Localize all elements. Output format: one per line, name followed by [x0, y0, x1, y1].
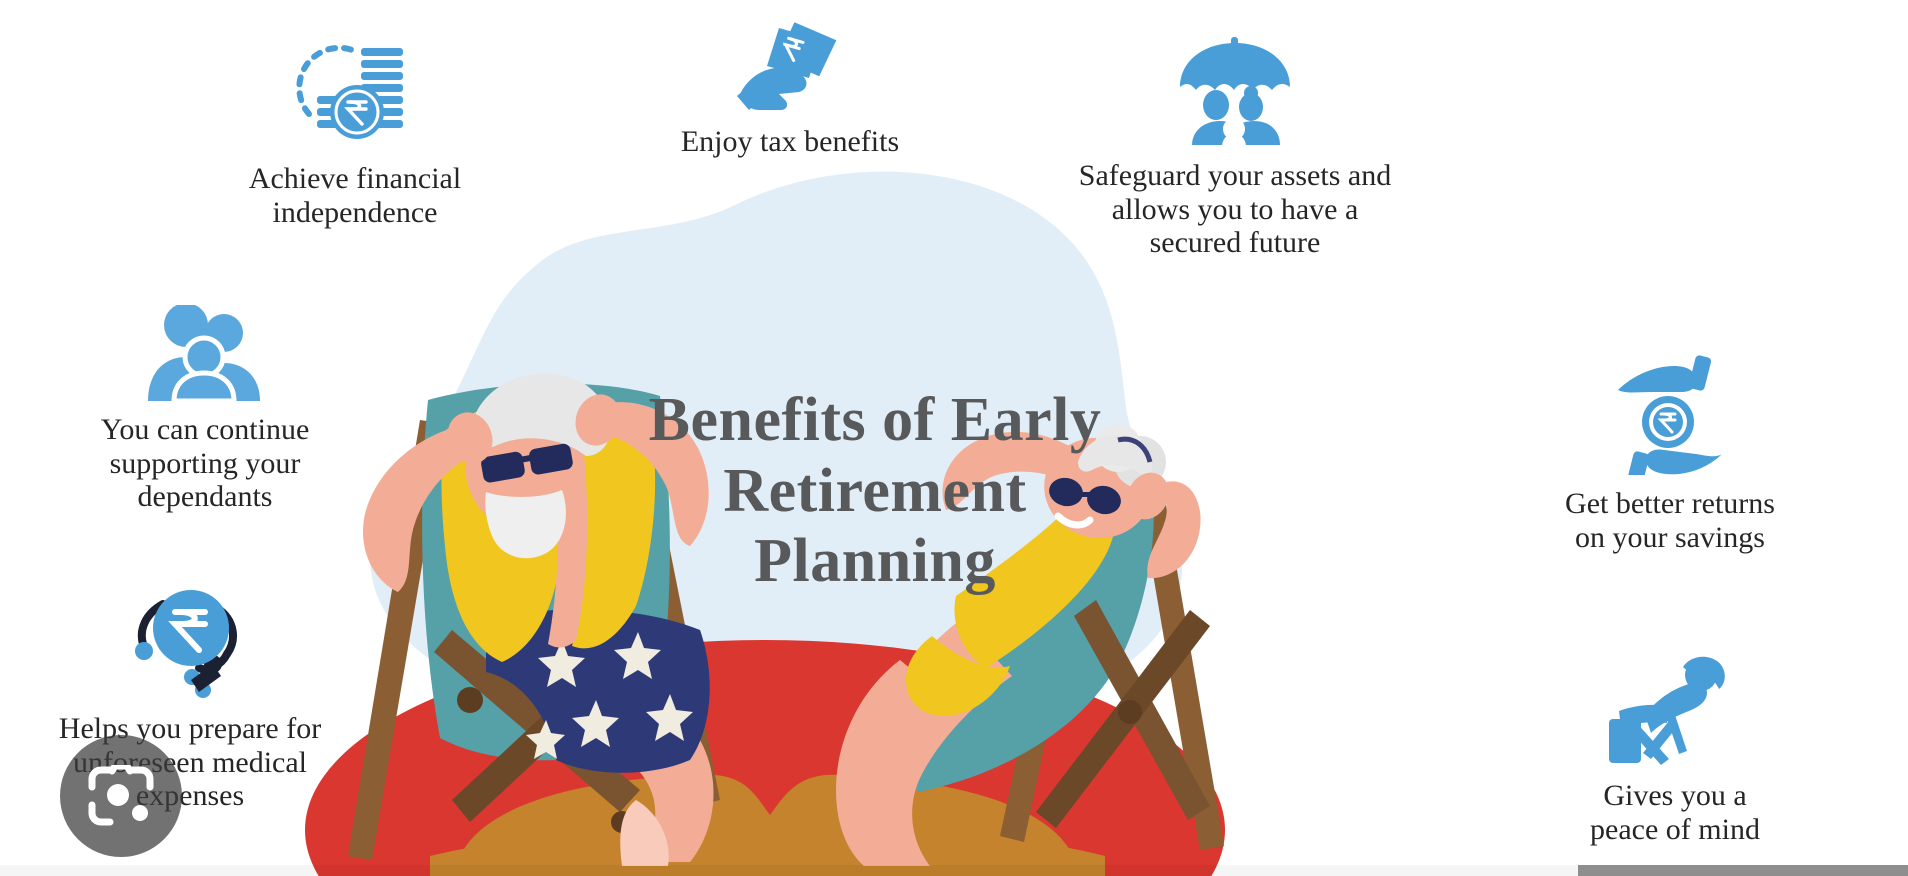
woman-arm-far [1147, 481, 1200, 578]
man-sunglasses [480, 443, 574, 484]
woman-swimsuit-lower [906, 636, 1010, 716]
woman-chair-leg-a [1074, 600, 1210, 820]
sand-area [455, 775, 1078, 876]
benefit-item-safeguard: Safeguard your assets and allows you to … [1035, 35, 1435, 260]
red-mat [305, 640, 1225, 876]
benefit-label-tax: Enjoy tax benefits [681, 125, 899, 159]
man-head [450, 393, 599, 547]
man-arm-left [363, 428, 472, 592]
man-shorts [486, 609, 710, 773]
man-beard [485, 490, 566, 558]
man-foot [620, 800, 669, 866]
hands-exchanging-coin-icon [1610, 350, 1730, 475]
man-chair-frame-back [348, 420, 446, 860]
benefit-label-returns: Get better returns on your savings [1565, 487, 1775, 554]
horizontal-scrollbar-track[interactable] [0, 865, 1908, 876]
man-hand-left [440, 406, 499, 470]
benefit-item-peace: Gives you a peace of mind [1560, 655, 1790, 846]
family-group-icon [146, 305, 264, 401]
man-chair-pivot [457, 687, 483, 713]
woman-leg-front [860, 620, 1012, 866]
benefit-label-peace: Gives you a peace of mind [1590, 779, 1760, 846]
man-chair-leg-a [434, 630, 640, 812]
coin-stack-rupee-icon [295, 40, 415, 150]
woman-hair-bun [1114, 436, 1166, 488]
hand-holding-banknotes-icon [735, 18, 845, 113]
umbrella-family-icon [1176, 35, 1294, 147]
benefit-item-financial: Achieve financial independence [205, 40, 505, 229]
benefit-label-financial: Achieve financial independence [249, 162, 461, 229]
google-lens-icon [88, 765, 154, 827]
woman-chair-frame-back [1136, 470, 1224, 850]
infographic-canvas: Benefits of Early Retirement Planning [0, 0, 1908, 876]
person-lounge-chair-icon [1609, 655, 1741, 767]
man-chair-fabric [422, 384, 670, 761]
woman-chair-leg-b [1036, 610, 1210, 828]
woman-leg-back [836, 660, 946, 866]
man-leg-front [536, 640, 713, 862]
benefit-item-returns: Get better returns on your savings [1525, 350, 1815, 554]
man-chair-pivot-2 [611, 811, 633, 833]
man-chair-leg-b [452, 640, 644, 822]
woman-chair-pivot [1118, 700, 1142, 724]
google-lens-button[interactable] [60, 735, 182, 857]
man-chest [546, 399, 587, 647]
benefit-item-dependants: You can continue supporting your dependa… [70, 305, 340, 514]
horizontal-scrollbar-thumb[interactable] [1578, 865, 1908, 876]
woman-chair-frame-front [1000, 556, 1084, 842]
man-shirt [442, 402, 563, 662]
woman-headband [1118, 439, 1150, 462]
page-title: Benefits of Early Retirement Planning [640, 385, 1110, 597]
man-hand-right [568, 388, 627, 452]
woman-hand [1120, 466, 1177, 526]
benefit-label-dependants: You can continue supporting your dependa… [101, 413, 310, 514]
man-hair [470, 374, 611, 456]
benefit-item-tax: Enjoy tax benefits [660, 18, 920, 159]
benefit-label-safeguard: Safeguard your assets and allows you to … [1079, 159, 1391, 260]
man-shorts-stars [526, 632, 693, 759]
stethoscope-rupee-coin-icon [125, 580, 255, 700]
